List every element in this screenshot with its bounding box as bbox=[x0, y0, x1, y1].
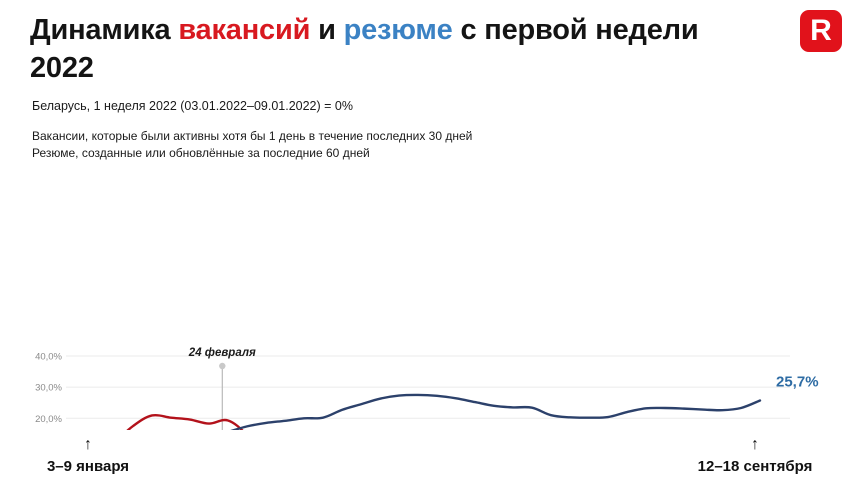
logo-letter-icon: R bbox=[810, 16, 832, 46]
title-highlight-resumes: резюме bbox=[344, 14, 453, 46]
callout-last-week-label: 12–18 сентября bbox=[698, 458, 813, 475]
subtitle-baseline: Беларусь, 1 неделя 2022 (03.01.2022–09.0… bbox=[32, 99, 730, 115]
arrow-up-icon: ↑ bbox=[18, 437, 158, 453]
end-value-label-resumes: 25,7% bbox=[776, 374, 819, 391]
title-part-1: Динамика bbox=[30, 14, 178, 46]
chart-container: 40,0%30,0%20,0%10,0%0,0%-10,0%-20,0%-30,… bbox=[0, 170, 860, 430]
page-title: Динамика вакансий и резюме с первой неде… bbox=[30, 12, 730, 87]
callout-first-week-label: 3–9 января bbox=[47, 458, 129, 475]
note-vacancies: Вакансии, которые были активны хотя бы 1… bbox=[32, 128, 730, 145]
chart-y-axis-labels: 40,0%30,0%20,0%10,0%0,0%-10,0%-20,0%-30,… bbox=[32, 352, 63, 431]
title-highlight-vacancies: вакансий bbox=[178, 14, 310, 46]
header-block: Динамика вакансий и резюме с первой неде… bbox=[30, 12, 730, 163]
event-marker-dot bbox=[219, 363, 225, 369]
chart-annotations: 24 февраля bbox=[188, 347, 256, 430]
callout-last-week: ↑ 12–18 сентября bbox=[660, 437, 850, 474]
y-axis-tick: 40,0% bbox=[35, 352, 62, 363]
title-part-mid: и bbox=[310, 14, 343, 46]
line-chart: 40,0%30,0%20,0%10,0%0,0%-10,0%-20,0%-30,… bbox=[0, 170, 860, 430]
arrow-up-icon: ↑ bbox=[660, 437, 850, 453]
callout-first-week: ↑ 3–9 января bbox=[18, 437, 158, 474]
y-axis-tick: 30,0% bbox=[35, 383, 62, 394]
note-resumes: Резюме, созданные или обновлённые за пос… bbox=[32, 145, 730, 162]
chart-series-lines bbox=[76, 395, 760, 430]
event-annotation-label: 24 февраля bbox=[188, 347, 256, 359]
chart-end-value-labels: 6,0%25,7% bbox=[776, 374, 819, 430]
series-line-resumes bbox=[76, 395, 760, 430]
series-line-vacancies bbox=[76, 415, 760, 430]
methodology-notes: Вакансии, которые были активны хотя бы 1… bbox=[32, 128, 730, 163]
y-axis-tick: 20,0% bbox=[35, 414, 62, 425]
rabota-logo: R bbox=[800, 10, 842, 52]
